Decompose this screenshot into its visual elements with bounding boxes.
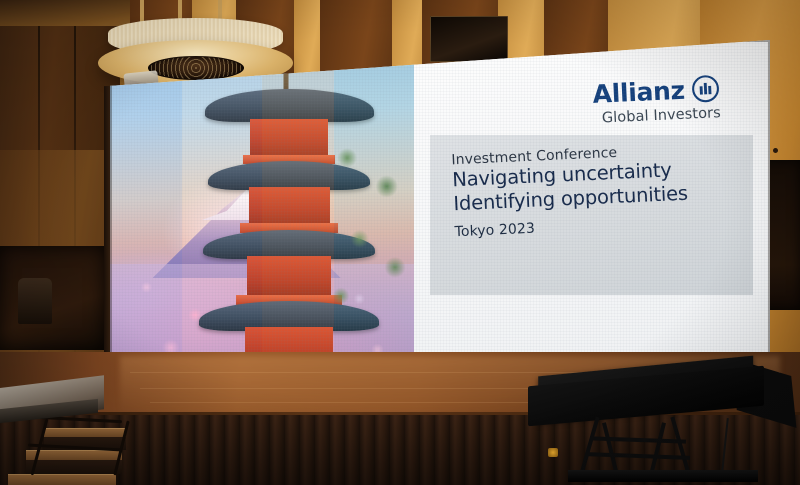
conference-stage-photo: Allianz Global Investors Investment Conf… — [0, 0, 800, 485]
stand-arm — [670, 417, 689, 472]
allianz-bars-circle-icon — [691, 75, 720, 104]
step-riser — [26, 460, 122, 474]
led-presentation-screen: Allianz Global Investors Investment Conf… — [110, 40, 770, 380]
confidence-monitor[interactable] — [528, 366, 778, 485]
pine-tree — [316, 115, 419, 353]
stand-crossbar — [590, 436, 686, 443]
monitor-cable — [721, 418, 729, 472]
alcove-object — [18, 278, 52, 324]
stand-arm — [650, 422, 666, 471]
step-tread — [8, 474, 116, 485]
stage-light-fixture — [548, 448, 558, 457]
pagoda-spire — [283, 44, 288, 93]
stand-crossbar — [586, 452, 690, 460]
chandelier-rod — [140, 0, 144, 22]
slide-title-block: Investment Conference Navigating uncerta… — [451, 142, 689, 241]
monitor-base — [568, 470, 758, 482]
wall-fixture-dot — [773, 148, 778, 153]
stand-arm — [580, 417, 599, 472]
led-screen-surface: Allianz Global Investors Investment Conf… — [110, 40, 770, 380]
wall-alcove — [0, 246, 104, 350]
stage-steps[interactable] — [8, 412, 178, 485]
slide-artwork-photo — [110, 40, 414, 380]
allianz-wordmark: Allianz — [592, 78, 685, 107]
allianz-logo: Allianz Global Investors — [592, 75, 721, 128]
stand-arm — [602, 422, 618, 471]
